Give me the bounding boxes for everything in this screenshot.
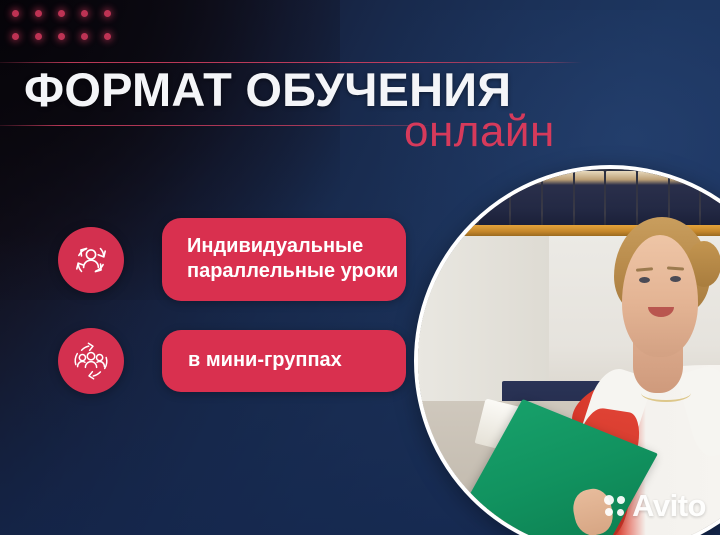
photo-necklace [641, 384, 691, 402]
photo-book [701, 171, 720, 225]
photo-book [543, 171, 573, 225]
teacher-photo [418, 169, 720, 535]
avito-dot [605, 508, 613, 516]
avito-wordmark: Avito [632, 490, 706, 521]
grid-dot [58, 33, 65, 40]
decorative-dot-grid [12, 10, 127, 56]
avito-dot [617, 509, 624, 516]
badge-line: Индивидуальные [187, 234, 384, 259]
page-subtitle: онлайн [404, 110, 555, 154]
grid-dot [35, 10, 42, 17]
badge-individual-lessons: Индивидуальные параллельные уроки [162, 218, 406, 301]
badge-line: в мини-группах [188, 348, 380, 373]
avito-dots-icon [603, 495, 625, 517]
photo-eye-right [670, 276, 681, 282]
avito-dot [617, 496, 625, 504]
avito-dot [604, 495, 614, 505]
avito-watermark: Avito [603, 490, 706, 521]
photo-book [670, 171, 700, 225]
photo-top-books [479, 169, 720, 225]
grid-dot [104, 33, 111, 40]
grid-dot [12, 10, 19, 17]
photo-book [575, 171, 605, 225]
accent-rule-middle [0, 125, 432, 126]
photo-eye-left [639, 277, 650, 283]
grid-dot [81, 33, 88, 40]
grid-dot [35, 33, 42, 40]
photo-book [606, 171, 636, 225]
grid-dot [12, 33, 19, 40]
portrait-circle [414, 165, 720, 535]
badge-mini-groups: в мини-группах [162, 330, 406, 392]
photo-book [511, 171, 541, 225]
feature-row-individual: Индивидуальные параллельные уроки [58, 218, 406, 301]
badge-line: параллельные уроки [187, 259, 384, 284]
group-people-cycle-icon [58, 328, 124, 394]
photo-book [479, 171, 509, 225]
grid-dot [58, 10, 65, 17]
page-title: ФОРМАТ ОБУЧЕНИЯ [24, 66, 511, 113]
single-person-cycle-icon [58, 227, 124, 293]
grid-dot [104, 10, 111, 17]
promo-poster: ФОРМАТ ОБУЧЕНИЯ [0, 0, 720, 535]
feature-row-mini-groups: в мини-группах [58, 328, 406, 394]
grid-dot [81, 10, 88, 17]
